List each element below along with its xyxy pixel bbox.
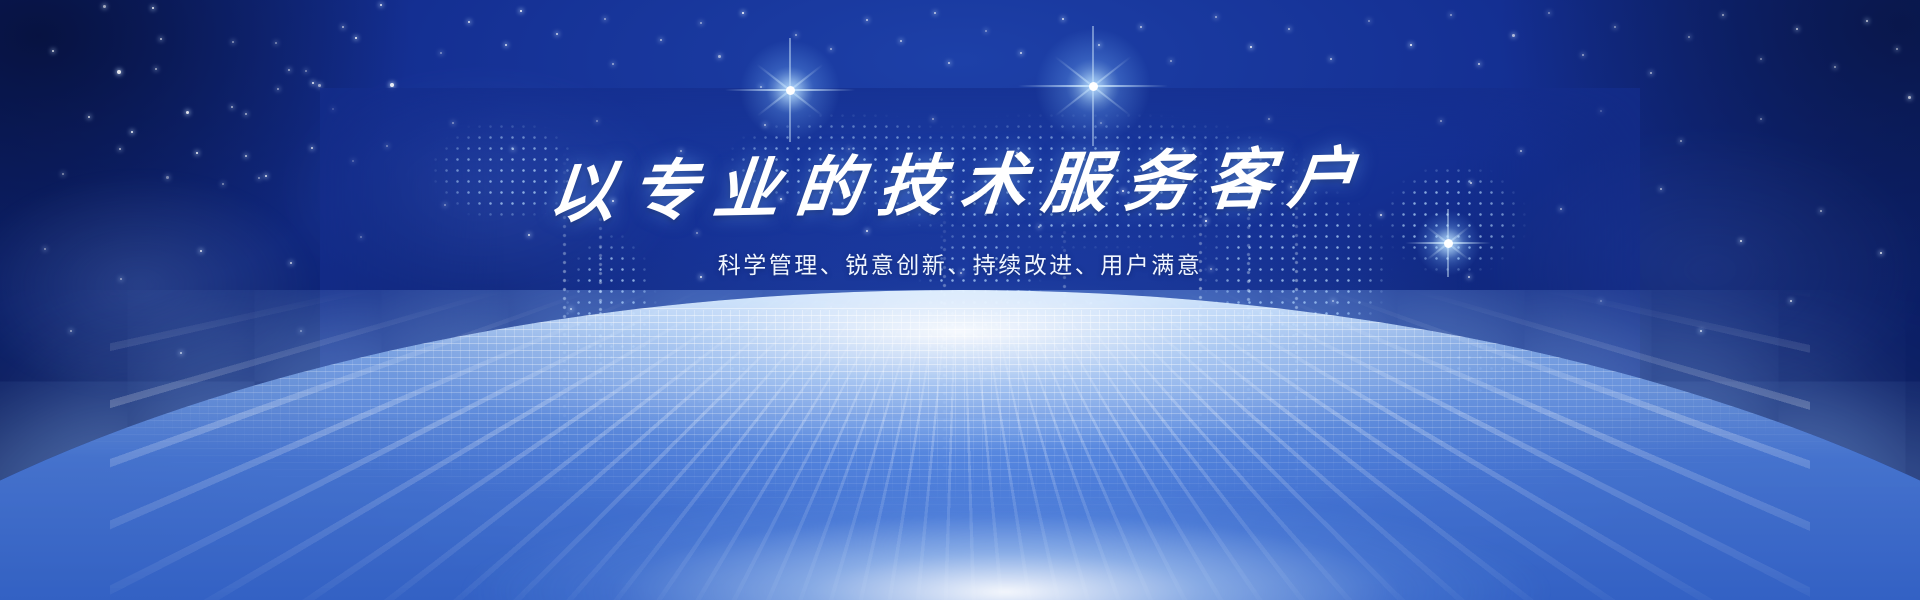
star [1090,302,1092,304]
radial-light-rays [110,290,1810,600]
city-grid [0,290,1920,600]
globe-surface [0,290,1920,600]
star [180,352,182,354]
globe-horizon [0,290,1920,600]
star [1600,300,1602,302]
star [830,306,832,308]
star [1790,300,1792,302]
horizon-edge-vignette [0,290,1920,600]
hero-banner: 以专业的技术服务客户 科学管理、锐意创新、持续改进、用户满意 [0,0,1920,600]
star [1700,330,1702,332]
city-grid-rows [0,308,1920,600]
city-grid-columns [0,310,1920,600]
banner-subtitle: 科学管理、锐意创新、持续改进、用户满意 [0,246,1920,280]
horizon-glow [0,410,1920,600]
star [300,330,302,332]
banner-headline: 以专业的技术服务客户 [0,130,1920,243]
star [570,308,572,310]
banner-copy: 以专业的技术服务客户 科学管理、锐意创新、持续改进、用户满意 [0,0,1920,280]
star [70,330,72,332]
star [1332,300,1334,302]
